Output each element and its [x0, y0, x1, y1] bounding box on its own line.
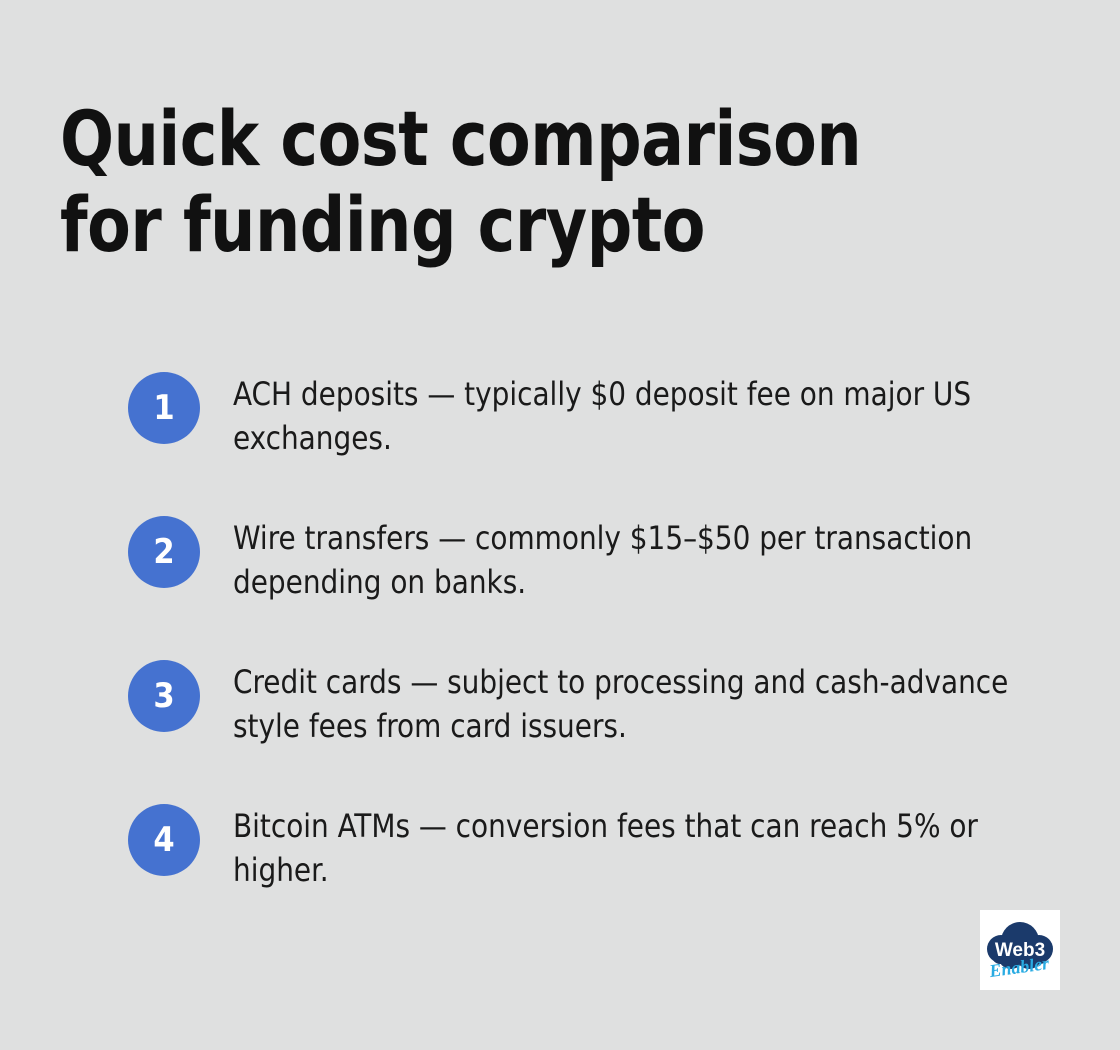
page-title: Quick cost comparison for funding crypto [60, 96, 897, 268]
badge-number: 3 [153, 679, 174, 713]
list-item: 4 Bitcoin ATMs — conversion fees that ca… [128, 802, 1068, 892]
infographic-canvas: Quick cost comparison for funding crypto… [0, 0, 1120, 1050]
cost-comparison-list: 1 ACH deposits — typically $0 deposit fe… [128, 370, 1068, 892]
list-item: 3 Credit cards — subject to processing a… [128, 658, 1068, 748]
title-block: Quick cost comparison for funding crypto [60, 96, 960, 268]
list-item-badge-4: 4 [128, 804, 200, 876]
list-item-badge-2: 2 [128, 516, 200, 588]
badge-number: 4 [153, 823, 174, 857]
list-item-badge-3: 3 [128, 660, 200, 732]
list-item-text: Bitcoin ATMs — conversion fees that can … [233, 802, 1043, 892]
badge-number: 1 [153, 391, 174, 425]
list-item-text: ACH deposits — typically $0 deposit fee … [233, 370, 1043, 460]
list-item: 1 ACH deposits — typically $0 deposit fe… [128, 370, 1068, 460]
cloud-icon: Web3 Enabler [982, 915, 1058, 985]
list-item-badge-1: 1 [128, 372, 200, 444]
list-item-text: Credit cards — subject to processing and… [233, 658, 1043, 748]
list-item: 2 Wire transfers — commonly $15–$50 per … [128, 514, 1068, 604]
brand-logo: Web3 Enabler [980, 910, 1060, 990]
list-item-text: Wire transfers — commonly $15–$50 per tr… [233, 514, 1043, 604]
badge-number: 2 [153, 535, 174, 569]
